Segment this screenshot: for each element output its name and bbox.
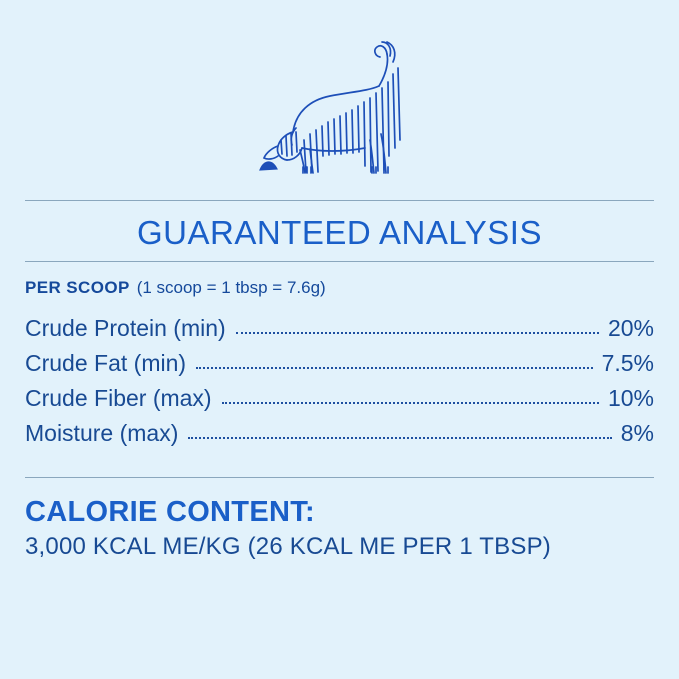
nutrient-value: 10%: [608, 385, 654, 412]
nutrient-name: Crude Fiber (max): [25, 385, 212, 412]
leader-dots: [196, 366, 593, 369]
nutrient-name: Crude Fat (min): [25, 350, 186, 377]
nutrient-name: Moisture (max): [25, 420, 178, 447]
page-title: GUARANTEED ANALYSIS: [0, 211, 679, 255]
calorie-content-heading: CALORIE CONTENT:: [25, 494, 654, 530]
dog-illustration: [0, 28, 679, 183]
guaranteed-analysis-label: GUARANTEED ANALYSIS PER SCOOP(1 scoop = …: [0, 0, 679, 679]
serving-size-note: (1 scoop = 1 tbsp = 7.6g): [137, 278, 326, 297]
line-art-dog-icon: [252, 36, 427, 176]
serving-size-label: PER SCOOP: [25, 278, 130, 297]
nutrient-name: Crude Protein (min): [25, 315, 226, 342]
nutrient-value: 20%: [608, 315, 654, 342]
leader-dots: [188, 436, 611, 439]
calorie-content-detail: 3,000 KCAL ME/KG (26 KCAL ME PER 1 TBSP): [25, 530, 654, 563]
nutrient-row: Crude Fiber (max) 10%: [25, 385, 654, 420]
divider-top: [25, 200, 654, 201]
nutrient-value: 7.5%: [602, 350, 654, 377]
nutrient-row: Crude Protein (min) 20%: [25, 315, 654, 350]
calorie-content-section: CALORIE CONTENT: 3,000 KCAL ME/KG (26 KC…: [25, 494, 654, 563]
nutrient-row: Moisture (max) 8%: [25, 420, 654, 455]
nutrient-value: 8%: [621, 420, 654, 447]
leader-dots: [222, 401, 599, 404]
serving-size-line: PER SCOOP(1 scoop = 1 tbsp = 7.6g): [25, 276, 326, 300]
leader-dots: [236, 331, 599, 334]
food-mound-icon: [260, 161, 277, 169]
divider-above-calories: [25, 477, 654, 478]
nutrient-list: Crude Protein (min) 20% Crude Fat (min) …: [25, 315, 654, 455]
divider-under-title: [25, 261, 654, 262]
nutrient-row: Crude Fat (min) 7.5%: [25, 350, 654, 385]
